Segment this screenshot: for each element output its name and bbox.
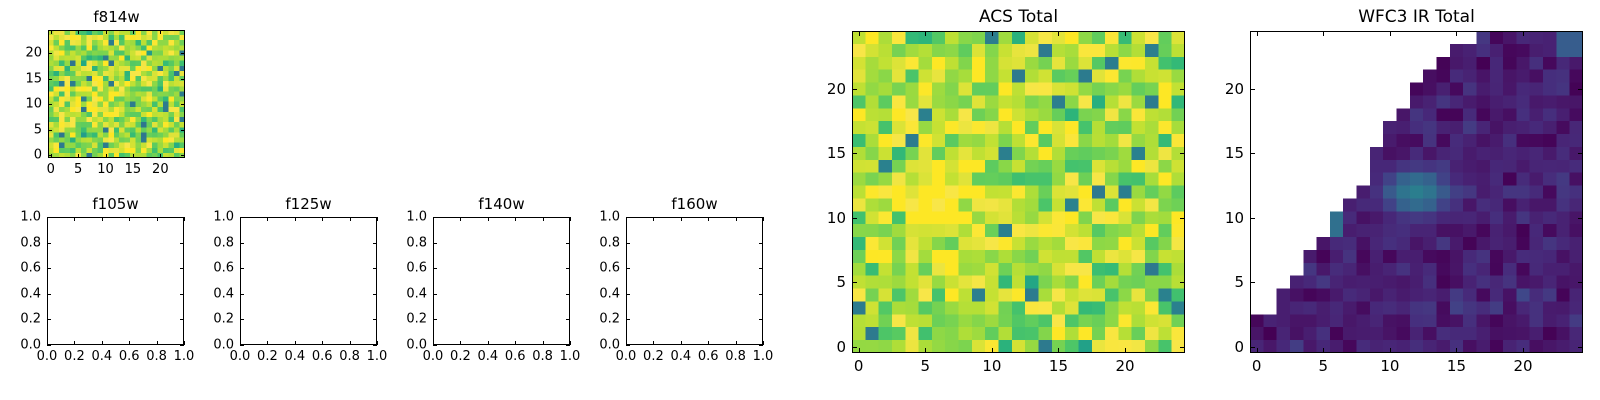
xtick-top (322, 217, 323, 221)
xtick (859, 348, 860, 353)
xticklabel: 0.4 (477, 349, 498, 364)
ytick (433, 217, 437, 218)
xtick (1257, 348, 1258, 353)
ytick-right (373, 345, 377, 346)
xtick (992, 348, 993, 353)
ytick (47, 345, 51, 346)
xtick-top (106, 30, 107, 34)
yticklabel: 20 (1225, 80, 1244, 98)
yticklabel: 0 (34, 148, 42, 163)
yticklabel: 0.8 (406, 235, 427, 250)
xtick-top (74, 217, 75, 221)
yticklabel: 0.6 (20, 261, 41, 276)
ytick (48, 155, 52, 156)
ytick-right (181, 79, 185, 80)
yticklabel: 0.4 (20, 286, 41, 301)
xtick (1456, 348, 1457, 353)
xtick (543, 341, 544, 345)
ytick (48, 79, 52, 80)
ytick (852, 282, 857, 283)
ytick (47, 217, 51, 218)
xticklabel: 0 (1252, 357, 1262, 375)
panel-title-f160w: f160w (626, 195, 763, 213)
xtick-top (460, 217, 461, 221)
xticklabel: 15 (1447, 357, 1466, 375)
xticklabel: 15 (125, 162, 142, 177)
ytick-right (1578, 218, 1583, 219)
panel-title-f105w: f105w (47, 195, 184, 213)
ytick-right (373, 217, 377, 218)
xtick-top (515, 217, 516, 221)
xticklabel: 0.8 (532, 349, 553, 364)
xticklabel: 5 (74, 162, 82, 177)
xtick (1523, 348, 1524, 353)
xticklabel: 20 (1116, 357, 1135, 375)
heatmap-image-wfc3-ir-total (1250, 31, 1583, 353)
xtick-top (377, 217, 378, 221)
xtick (267, 341, 268, 345)
xtick (377, 341, 378, 345)
ytick-right (1578, 282, 1583, 283)
ytick (1250, 282, 1255, 283)
xtick-top (295, 217, 296, 221)
xticklabel: 15 (1049, 357, 1068, 375)
ytick (852, 89, 857, 90)
yticklabel: 20 (827, 80, 846, 98)
xticklabel: 20 (1514, 357, 1533, 375)
xtick (78, 154, 79, 158)
ytick-right (181, 155, 185, 156)
ytick-right (373, 319, 377, 320)
xticklabel: 0 (47, 162, 55, 177)
xtick-top (350, 217, 351, 221)
yticklabel: 0 (1234, 338, 1244, 356)
ytick-right (566, 217, 570, 218)
xtick (129, 341, 130, 345)
ytick-right (373, 243, 377, 244)
yticklabel: 1.0 (406, 210, 427, 225)
ytick-right (1578, 347, 1583, 348)
ytick (626, 217, 630, 218)
ytick (852, 218, 857, 219)
ytick (240, 268, 244, 269)
ytick (240, 294, 244, 295)
xtick-top (51, 30, 52, 34)
xtick-top (763, 217, 764, 221)
ytick (433, 319, 437, 320)
ytick-right (180, 243, 184, 244)
yticklabel: 0.6 (213, 261, 234, 276)
xticklabel: 0.8 (146, 349, 167, 364)
xticklabel: 0.4 (91, 349, 112, 364)
ytick (433, 294, 437, 295)
yticklabel: 5 (34, 122, 42, 137)
panel-title-wfc3-ir-total: WFC3 IR Total (1250, 7, 1583, 27)
yticklabel: 10 (25, 97, 42, 112)
xtick (925, 348, 926, 353)
xticklabel: 20 (152, 162, 169, 177)
yticklabel: 10 (827, 209, 846, 227)
ytick-right (1180, 89, 1185, 90)
xtick (157, 341, 158, 345)
yticklabel: 0.4 (406, 286, 427, 301)
yticklabel: 0.2 (20, 312, 41, 327)
xticklabel: 0.8 (725, 349, 746, 364)
xticklabel: 1.0 (174, 349, 195, 364)
xticklabel: 0.2 (450, 349, 471, 364)
xticklabel: 0.2 (64, 349, 85, 364)
ytick (240, 217, 244, 218)
xtick-top (736, 217, 737, 221)
ytick-right (181, 53, 185, 54)
xtick (763, 341, 764, 345)
xtick-top (267, 217, 268, 221)
xtick (460, 341, 461, 345)
xtick (184, 341, 185, 345)
yticklabel: 15 (827, 144, 846, 162)
xtick-top (102, 217, 103, 221)
ytick-right (180, 345, 184, 346)
xtick-top (184, 217, 185, 221)
xtick (295, 341, 296, 345)
xticklabel: 0.4 (284, 349, 305, 364)
ytick (1250, 347, 1255, 348)
yticklabel: 0.4 (213, 286, 234, 301)
xtick-top (1125, 31, 1126, 36)
axes-wfc3-ir-total: WFC3 IR Total0510152005101520 (1250, 31, 1583, 353)
xticklabel: 0.2 (257, 349, 278, 364)
axes-f140w: f140w0.00.20.40.60.81.00.00.20.40.60.81.… (433, 217, 570, 345)
xticklabel: 0.4 (670, 349, 691, 364)
plot-background (626, 217, 763, 345)
ytick-right (180, 294, 184, 295)
xtick-top (129, 217, 130, 221)
ytick (433, 243, 437, 244)
yticklabel: 0.4 (599, 286, 620, 301)
yticklabel: 0.2 (599, 312, 620, 327)
ytick-right (566, 243, 570, 244)
xtick-top (1523, 31, 1524, 36)
panel-title-f814w: f814w (48, 8, 185, 26)
xtick (350, 341, 351, 345)
ytick-right (180, 319, 184, 320)
xtick (1058, 348, 1059, 353)
ytick (626, 319, 630, 320)
ytick (48, 104, 52, 105)
xtick (708, 341, 709, 345)
ytick (433, 345, 437, 346)
plot-background (47, 217, 184, 345)
ytick-right (180, 268, 184, 269)
plot-background (433, 217, 570, 345)
xtick-top (681, 217, 682, 221)
yticklabel: 0.8 (599, 235, 620, 250)
xtick-top (1390, 31, 1391, 36)
xtick (736, 341, 737, 345)
xtick-top (653, 217, 654, 221)
yticklabel: 15 (1225, 144, 1244, 162)
xtick-top (1058, 31, 1059, 36)
ytick-right (180, 217, 184, 218)
xtick-top (488, 217, 489, 221)
yticklabel: 20 (25, 46, 42, 61)
xtick (160, 154, 161, 158)
yticklabel: 0.2 (406, 312, 427, 327)
ytick-right (1180, 218, 1185, 219)
ytick (47, 319, 51, 320)
ytick-right (181, 130, 185, 131)
xtick (1125, 348, 1126, 353)
ytick-right (1180, 153, 1185, 154)
matplotlib-figure: f814w0510152005101520f105w0.00.20.40.60.… (0, 0, 1600, 400)
yticklabel: 0.0 (20, 338, 41, 353)
xtick-top (78, 30, 79, 34)
xtick-top (543, 217, 544, 221)
yticklabel: 1.0 (213, 210, 234, 225)
ytick (433, 268, 437, 269)
ytick-right (566, 268, 570, 269)
xtick-top (160, 30, 161, 34)
xticklabel: 10 (1380, 357, 1399, 375)
xticklabel: 5 (1318, 357, 1328, 375)
xtick (653, 341, 654, 345)
xtick-top (1323, 31, 1324, 36)
heatmap-image-acs-total (852, 31, 1185, 353)
xtick-top (992, 31, 993, 36)
xticklabel: 0.6 (119, 349, 140, 364)
xtick-top (133, 30, 134, 34)
ytick-right (759, 268, 763, 269)
xticklabel: 1.0 (367, 349, 388, 364)
axes-f814w: f814w0510152005101520 (48, 30, 185, 158)
xticklabel: 0 (854, 357, 864, 375)
ytick-right (1180, 347, 1185, 348)
ytick-right (759, 217, 763, 218)
xtick-top (859, 31, 860, 36)
ytick-right (759, 243, 763, 244)
yticklabel: 1.0 (599, 210, 620, 225)
yticklabel: 0.8 (20, 235, 41, 250)
xtick (1323, 348, 1324, 353)
ytick (626, 243, 630, 244)
yticklabel: 0.0 (599, 338, 620, 353)
xtick (515, 341, 516, 345)
xticklabel: 0.6 (505, 349, 526, 364)
ytick (240, 345, 244, 346)
yticklabel: 5 (836, 273, 846, 291)
axes-f105w: f105w0.00.20.40.60.81.00.00.20.40.60.81.… (47, 217, 184, 345)
xtick (106, 154, 107, 158)
yticklabel: 1.0 (20, 210, 41, 225)
yticklabel: 15 (25, 71, 42, 86)
xtick (74, 341, 75, 345)
xticklabel: 0.2 (643, 349, 664, 364)
ytick-right (566, 319, 570, 320)
axes-acs-total: ACS Total0510152005101520 (852, 31, 1185, 353)
xtick-top (157, 217, 158, 221)
ytick (47, 294, 51, 295)
axes-f125w: f125w0.00.20.40.60.81.00.00.20.40.60.81.… (240, 217, 377, 345)
ytick (1250, 218, 1255, 219)
xtick (570, 341, 571, 345)
ytick-right (1180, 282, 1185, 283)
ytick (240, 319, 244, 320)
xtick (322, 341, 323, 345)
xtick (133, 154, 134, 158)
xtick-top (570, 217, 571, 221)
xticklabel: 1.0 (753, 349, 774, 364)
ytick (852, 153, 857, 154)
plot-background (240, 217, 377, 345)
panel-title-acs-total: ACS Total (852, 7, 1185, 27)
panel-title-f125w: f125w (240, 195, 377, 213)
heatmap-image-f814w (48, 30, 185, 158)
ytick (1250, 89, 1255, 90)
xtick-top (1257, 31, 1258, 36)
xtick (1390, 348, 1391, 353)
ytick (626, 268, 630, 269)
xtick (681, 341, 682, 345)
xtick-top (1456, 31, 1457, 36)
xticklabel: 10 (97, 162, 114, 177)
xtick-top (925, 31, 926, 36)
ytick (852, 347, 857, 348)
ytick (240, 243, 244, 244)
panel-title-f140w: f140w (433, 195, 570, 213)
ytick-right (759, 345, 763, 346)
ytick (48, 130, 52, 131)
yticklabel: 0.0 (213, 338, 234, 353)
xticklabel: 0.6 (698, 349, 719, 364)
ytick (47, 243, 51, 244)
xticklabel: 10 (982, 357, 1001, 375)
ytick-right (373, 294, 377, 295)
yticklabel: 10 (1225, 209, 1244, 227)
yticklabel: 5 (1234, 273, 1244, 291)
yticklabel: 0.8 (213, 235, 234, 250)
ytick-right (1578, 89, 1583, 90)
yticklabel: 0.2 (213, 312, 234, 327)
ytick (48, 53, 52, 54)
xticklabel: 1.0 (560, 349, 581, 364)
axes-f160w: f160w0.00.20.40.60.81.00.00.20.40.60.81.… (626, 217, 763, 345)
xticklabel: 5 (920, 357, 930, 375)
xtick (488, 341, 489, 345)
ytick-right (566, 345, 570, 346)
ytick (626, 345, 630, 346)
ytick (1250, 153, 1255, 154)
ytick-right (759, 319, 763, 320)
ytick-right (566, 294, 570, 295)
yticklabel: 0.6 (599, 261, 620, 276)
yticklabel: 0.0 (406, 338, 427, 353)
ytick-right (1578, 153, 1583, 154)
xtick (102, 341, 103, 345)
ytick (626, 294, 630, 295)
ytick (47, 268, 51, 269)
xticklabel: 0.6 (312, 349, 333, 364)
yticklabel: 0 (836, 338, 846, 356)
yticklabel: 0.6 (406, 261, 427, 276)
ytick-right (181, 104, 185, 105)
xticklabel: 0.8 (339, 349, 360, 364)
ytick-right (759, 294, 763, 295)
xtick-top (708, 217, 709, 221)
ytick-right (373, 268, 377, 269)
